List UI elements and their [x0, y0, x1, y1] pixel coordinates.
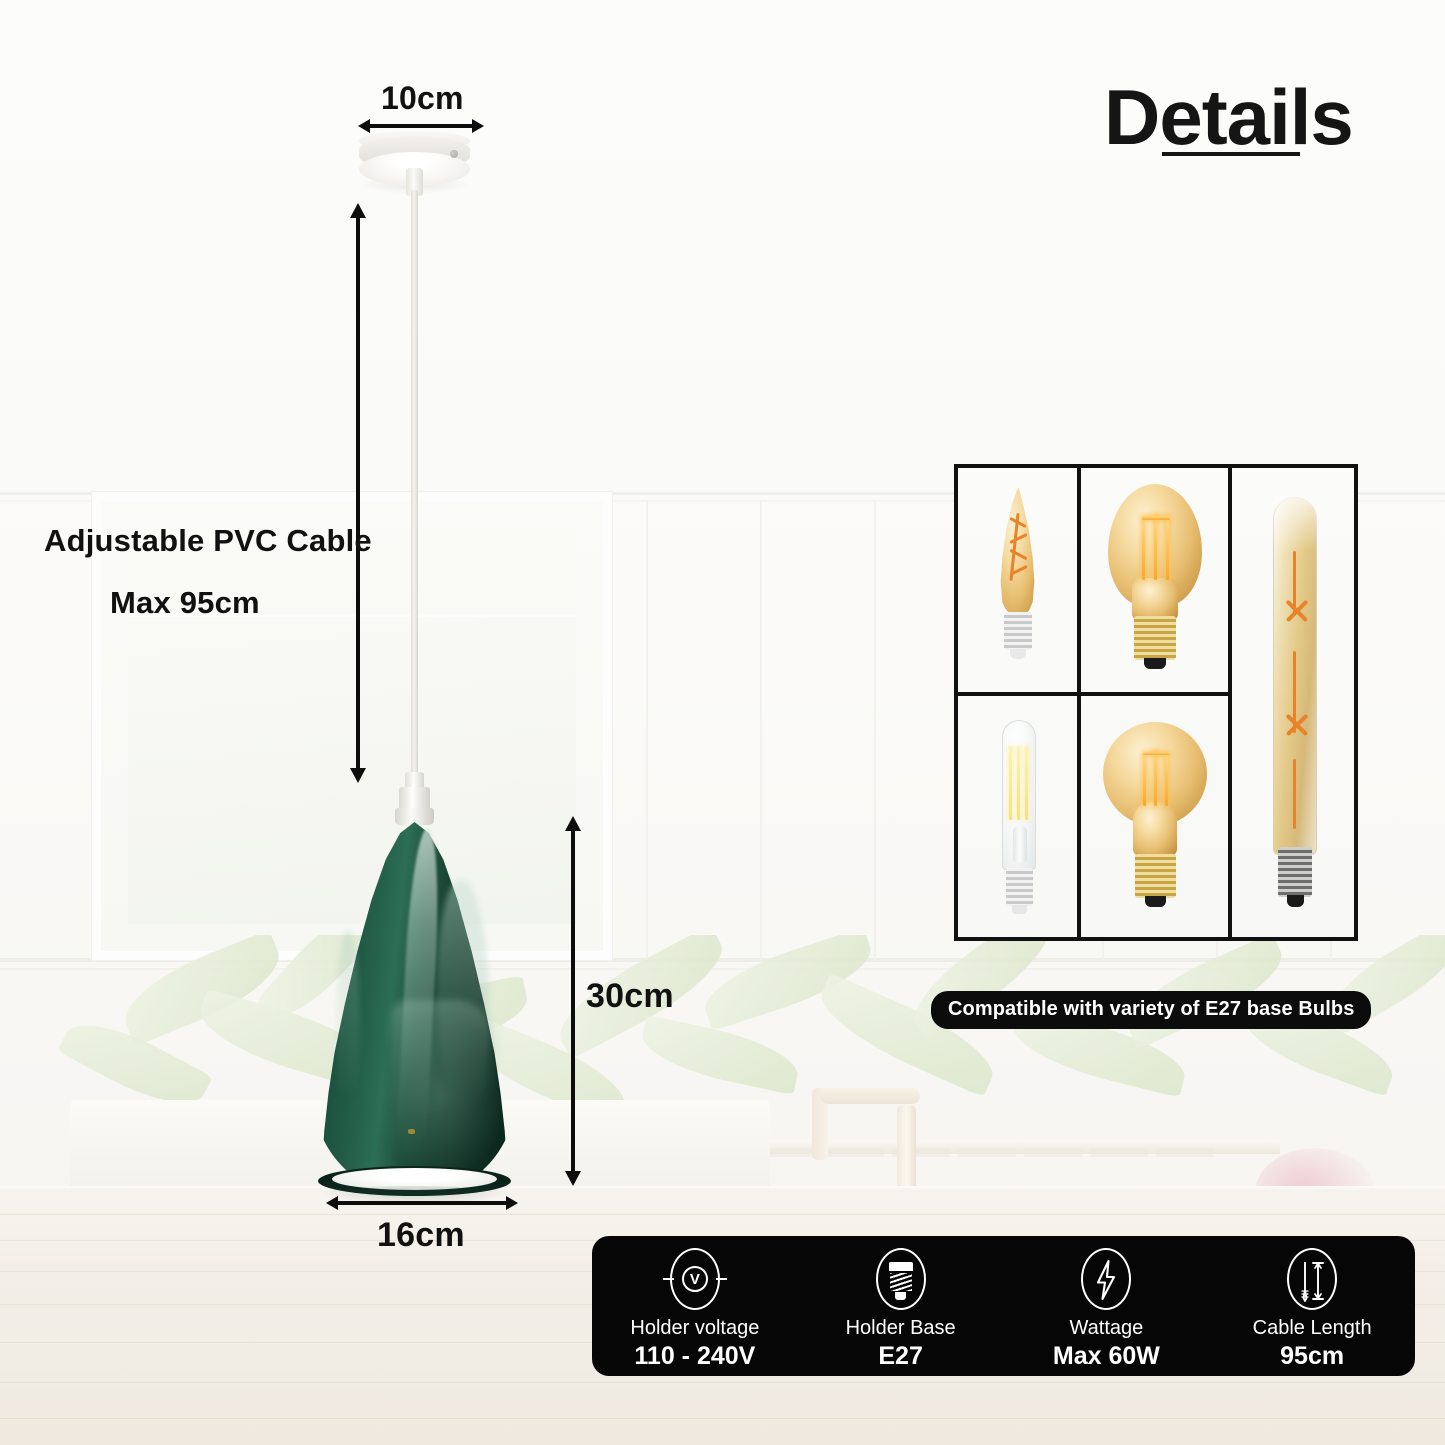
bulb-cell-candle — [958, 468, 1077, 692]
bulb-compatibility-grid — [954, 464, 1358, 941]
lightning-bolt-icon — [1081, 1248, 1131, 1310]
bulb-compatibility-caption: Compatible with variety of E27 base Bulb… — [931, 991, 1371, 1029]
cable-length-arrow-line — [356, 214, 360, 774]
wall-panel-line — [760, 500, 762, 960]
spec-wattage: Wattage Max 60W — [1004, 1236, 1210, 1376]
spec-value: 95cm — [1280, 1342, 1344, 1371]
shade-width-arrow-line — [338, 1201, 510, 1205]
arrow-up-icon — [350, 203, 366, 218]
ruler-measure-icon — [1287, 1248, 1337, 1310]
voltmeter-icon: V — [670, 1248, 720, 1310]
faucet-arm — [820, 1088, 920, 1104]
page-title: Details — [1104, 78, 1353, 156]
spec-value: Max 60W — [1053, 1342, 1160, 1371]
spec-label: Holder Base — [846, 1317, 956, 1340]
arrow-up-icon — [565, 816, 581, 831]
specification-bar: V Holder voltage 110 - 240V Holder Base … — [592, 1236, 1415, 1376]
bulb-cell-globe-amber — [1081, 696, 1228, 941]
arrow-right-icon — [472, 119, 484, 133]
canopy-width-label: 10cm — [381, 80, 464, 117]
cable-label-line1: Adjustable PVC Cable — [44, 523, 372, 559]
spec-cable-length: Cable Length 95cm — [1209, 1236, 1415, 1376]
canopy-width-arrow-line — [366, 124, 480, 128]
arrow-left-icon — [358, 119, 370, 133]
spec-holder-base: Holder Base E27 — [798, 1236, 1004, 1376]
bulb-cell-a19-amber — [1081, 468, 1228, 692]
shade-width-label: 16cm — [377, 1216, 465, 1255]
bulb-cell-long-tubular — [1232, 468, 1358, 941]
bulb-cell-tubular-clear — [958, 696, 1077, 941]
spec-label: Wattage — [1070, 1317, 1144, 1340]
arrow-right-icon — [506, 1196, 518, 1210]
voltmeter-v-letter: V — [682, 1266, 708, 1292]
arrow-down-icon — [350, 768, 366, 783]
spec-label: Holder voltage — [630, 1317, 759, 1340]
lamp-socket-icon — [876, 1248, 926, 1310]
shade-reflection-dot — [408, 1129, 415, 1134]
spec-label: Cable Length — [1253, 1317, 1372, 1340]
pvc-cable — [411, 190, 418, 780]
arrow-left-icon — [326, 1196, 338, 1210]
cable-label-line2: Max 95cm — [110, 585, 260, 621]
spec-value: E27 — [878, 1342, 922, 1371]
shade-highlight — [336, 930, 360, 1130]
wall-panel-line — [646, 500, 648, 960]
title-underline — [1162, 152, 1300, 156]
spec-holder-voltage: V Holder voltage 110 - 240V — [592, 1236, 798, 1376]
shade-height-label: 30cm — [586, 977, 674, 1016]
arrow-down-icon — [565, 1171, 581, 1186]
spec-value: 110 - 240V — [634, 1342, 755, 1371]
canopy-screw-icon — [450, 150, 458, 158]
shade-height-arrow-line — [571, 827, 575, 1177]
product-detail-image: 10cm Adjustable PVC Cable Max 95cm 30cm … — [0, 0, 1445, 1445]
wall-panel-line — [874, 500, 876, 960]
